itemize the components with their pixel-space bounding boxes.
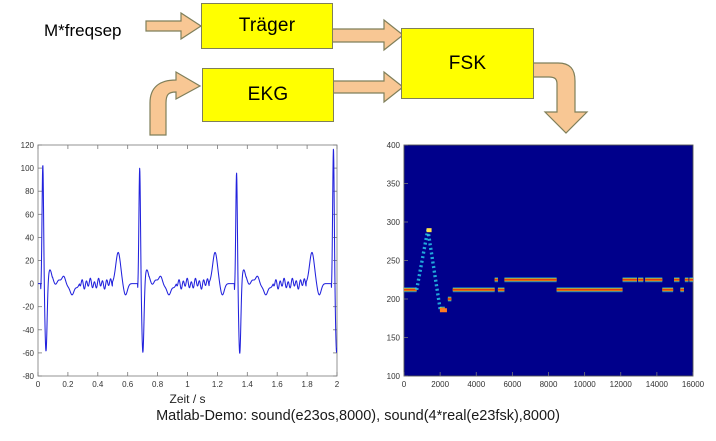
spec-xtick-label: 6000 xyxy=(503,380,521,389)
arrow-input-to-traeger xyxy=(146,13,201,39)
ecg-xtick-label: 1.8 xyxy=(302,380,314,389)
ecg-chart: -80-60-40-2002040608010012000.20.40.60.8… xyxy=(0,138,350,403)
ecg-ytick-label: -40 xyxy=(22,326,34,335)
spec-ytick-label: 300 xyxy=(387,218,401,227)
ecg-ytick-label: 100 xyxy=(21,164,35,173)
ecg-xaxis-title: Zeit / s xyxy=(169,392,205,403)
spectrogram-chart-svg: 1001502002503003504000200040006000800010… xyxy=(378,138,708,403)
slide-canvas: .ar{fill:#f8c794;stroke:#7f7f5a;stroke-w… xyxy=(0,0,716,441)
ecg-xtick-label: 2 xyxy=(335,380,340,389)
ecg-xtick-label: 0.2 xyxy=(62,380,74,389)
block-ekg[interactable]: EKG xyxy=(202,68,334,122)
spec-xtick-label: 12000 xyxy=(610,380,633,389)
ecg-xtick-label: 1 xyxy=(185,380,190,389)
ecg-xtick-label: 0 xyxy=(36,380,41,389)
ecg-xtick-label: 1.2 xyxy=(212,380,224,389)
spec-xtick-label: 8000 xyxy=(540,380,558,389)
ecg-ytick-label: -60 xyxy=(22,349,34,358)
ecg-ytick-label: 40 xyxy=(25,233,34,242)
spec-ytick-label: 400 xyxy=(387,141,401,150)
spec-ytick-label: 250 xyxy=(387,257,401,266)
ecg-ytick-label: -80 xyxy=(22,372,34,381)
arrow-ekg-to-fsk xyxy=(332,72,403,102)
ecg-ytick-label: -20 xyxy=(22,303,34,312)
spec-xtick-label: 0 xyxy=(402,380,407,389)
arrow-fsk-output xyxy=(532,63,587,133)
spec-ytick-label: 200 xyxy=(387,295,401,304)
block-diagram: .ar{fill:#f8c794;stroke:#7f7f5a;stroke-w… xyxy=(0,0,716,140)
ecg-ytick-label: 80 xyxy=(25,187,34,196)
arrow-traeger-to-fsk xyxy=(331,20,403,50)
block-traeger[interactable]: Träger xyxy=(201,3,333,49)
ecg-plot-frame xyxy=(38,145,337,376)
spec-chirp-peak-blob xyxy=(427,228,432,232)
spectrogram-chart: 1001502002503003504000200040006000800010… xyxy=(378,138,708,403)
ecg-ytick-label: 20 xyxy=(25,257,34,266)
spec-xtick-label: 10000 xyxy=(574,380,597,389)
ecg-xtick-label: 0.4 xyxy=(92,380,104,389)
ecg-xtick-label: 1.4 xyxy=(242,380,254,389)
ecg-xtick-label: 0.8 xyxy=(152,380,164,389)
spec-xtick-label: 2000 xyxy=(431,380,449,389)
spec-chirp-nadir-blob xyxy=(440,308,447,312)
spec-ytick-label: 150 xyxy=(387,334,401,343)
spec-xtick-label: 4000 xyxy=(467,380,485,389)
input-label: M*freqsep xyxy=(44,21,121,41)
spec-ytick-label: 100 xyxy=(387,372,401,381)
caption-text: Matlab-Demo: sound(e23os,8000), sound(4*… xyxy=(0,408,716,424)
ecg-ytick-label: 0 xyxy=(30,280,35,289)
spec-ytick-label: 350 xyxy=(387,180,401,189)
arrow-feedback-to-ekg xyxy=(150,72,200,135)
ecg-ytick-label: 60 xyxy=(25,210,34,219)
spec-xtick-label: 14000 xyxy=(646,380,669,389)
spec-plot-background xyxy=(404,145,693,376)
ecg-chart-svg: -80-60-40-2002040608010012000.20.40.60.8… xyxy=(0,138,350,403)
block-fsk[interactable]: FSK xyxy=(401,28,534,99)
ecg-xtick-label: 1.6 xyxy=(272,380,284,389)
ecg-xtick-label: 0.6 xyxy=(122,380,134,389)
ecg-ytick-label: 120 xyxy=(21,141,35,150)
spec-xtick-label: 16000 xyxy=(682,380,705,389)
